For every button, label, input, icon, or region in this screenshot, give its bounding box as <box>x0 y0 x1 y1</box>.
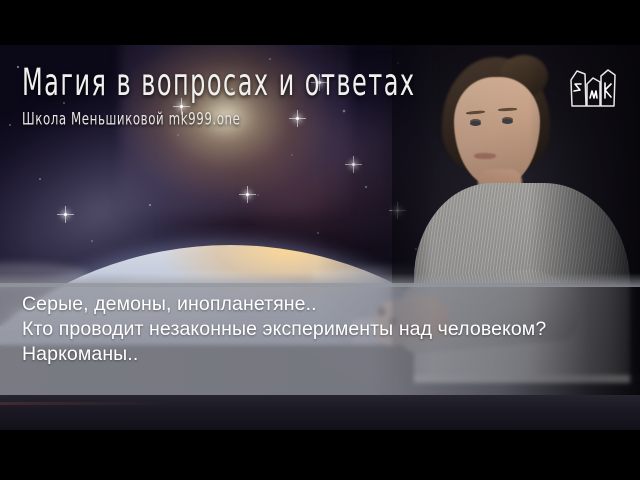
bright-star <box>246 193 249 196</box>
bright-star <box>64 213 67 216</box>
program-title: Магия в вопросах и ответах <box>22 63 416 102</box>
caption-line: Кто проводит незаконные эксперименты над… <box>22 317 622 342</box>
caption-text-block: Серые, демоны, инопланетяне.. Кто провод… <box>22 292 622 367</box>
caption-line: Серые, демоны, инопланетяне.. <box>22 292 622 317</box>
program-subtitle: Школа Меньшиковой mk999.one <box>22 110 424 130</box>
video-frame: Магия в вопросах и ответах Школа Меньшик… <box>0 0 640 480</box>
eye-right <box>502 119 513 124</box>
letterbox-bar-top <box>0 0 640 45</box>
title-block: Магия в вопросах и ответах Школа Меньшик… <box>22 63 450 126</box>
lips <box>474 153 496 159</box>
letterbox-bar-bottom <box>0 430 640 480</box>
rune-stones-logo <box>564 60 622 118</box>
caption-line: Наркоманы.. <box>22 342 622 367</box>
video-content-area: Магия в вопросах и ответах Школа Меньшик… <box>0 45 640 430</box>
desk-edge <box>0 395 640 430</box>
eye-left <box>470 121 481 126</box>
bright-star <box>352 163 355 166</box>
